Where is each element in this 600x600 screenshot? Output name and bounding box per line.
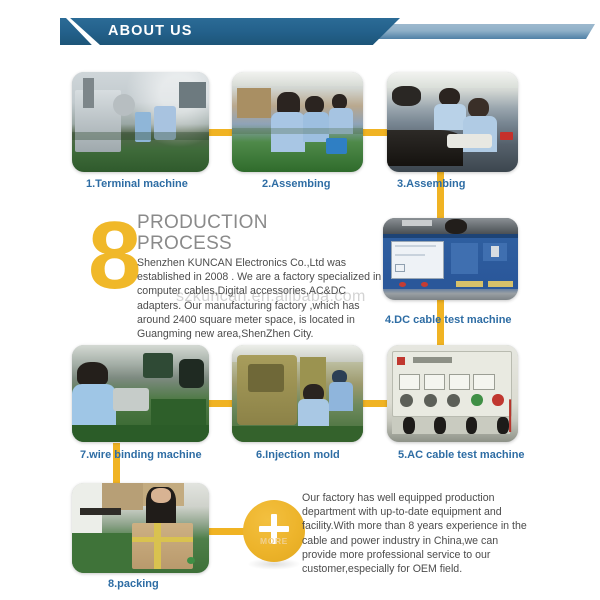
step-caption-7: 7.wire binding machine — [80, 449, 202, 461]
process-description: Shenzhen KUNCAN Electronics Co.,Ltd was … — [137, 256, 382, 341]
process-heading-line2: PROCESS — [137, 233, 377, 254]
plus-icon-bar — [259, 526, 289, 532]
assembing-photo-1 — [232, 72, 363, 172]
step-caption-2: 2.Assembing — [262, 178, 330, 190]
about-us-page: ABOUT US 1.Terminal machine — [0, 0, 600, 600]
step-photo-6[interactable] — [232, 345, 363, 442]
step-photo-3[interactable] — [387, 72, 518, 172]
step-photo-7[interactable] — [72, 345, 209, 442]
step-photo-4[interactable] — [383, 218, 518, 300]
page-title: ABOUT US — [108, 18, 193, 45]
step-caption-6: 6.Injection mold — [256, 449, 340, 461]
connector-1-2 — [208, 129, 232, 136]
more-button[interactable]: MORE — [243, 500, 305, 572]
dc-cable-test-machine-photo — [383, 218, 518, 300]
step-photo-2[interactable] — [232, 72, 363, 172]
header-light-bar — [370, 24, 595, 39]
company-description: Our factory has well equipped production… — [302, 491, 532, 576]
step-photo-1[interactable] — [72, 72, 209, 172]
section-header: ABOUT US — [60, 18, 540, 48]
step-caption-4: 4.DC cable test machine — [385, 314, 512, 326]
more-button-label: MORE — [243, 536, 305, 546]
wire-binding-machine-photo — [72, 345, 209, 442]
connector-6-7 — [208, 400, 232, 407]
connector-5-6 — [363, 400, 387, 407]
step-caption-8: 8.packing — [108, 578, 159, 590]
step-caption-5: 5.AC cable test machine — [398, 449, 525, 461]
step-photo-8[interactable] — [72, 483, 209, 573]
process-number: 8 — [88, 208, 141, 304]
ac-cable-test-machine-photo — [387, 345, 518, 442]
step-caption-3: 3.Assembing — [397, 178, 465, 190]
packing-photo — [72, 483, 209, 573]
process-heading-line1: PRODUCTION — [137, 212, 377, 233]
assembing-photo-2 — [387, 72, 518, 172]
terminal-machine-photo — [72, 72, 209, 172]
connector-2-3 — [363, 129, 387, 136]
process-heading: PRODUCTION PROCESS — [137, 212, 377, 254]
step-photo-5[interactable] — [387, 345, 518, 442]
injection-mold-photo — [232, 345, 363, 442]
step-caption-1: 1.Terminal machine — [86, 178, 188, 190]
connector-8-more — [208, 528, 248, 535]
